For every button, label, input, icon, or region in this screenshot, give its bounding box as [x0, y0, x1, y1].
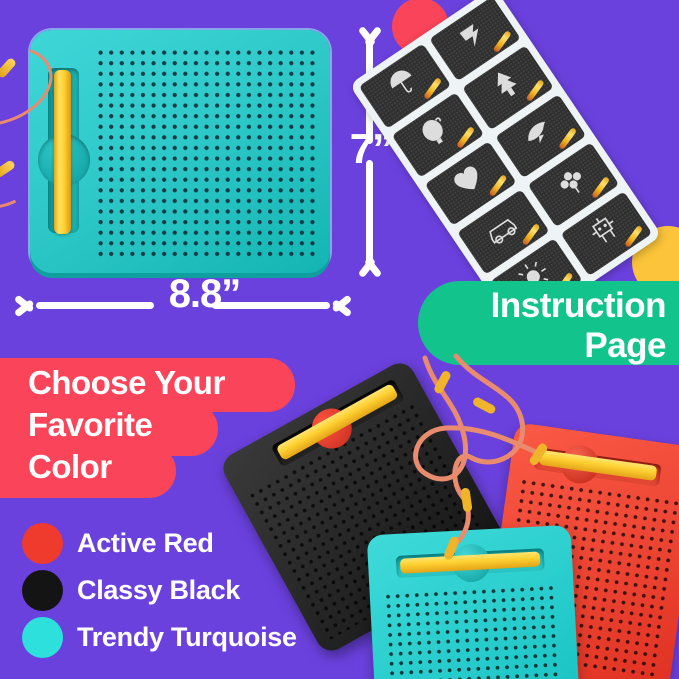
legend-item-trendy-turquoise: Trendy Turquoise — [22, 614, 352, 661]
color-swatch-turquoise — [22, 617, 63, 658]
color-legend: Active Red Classy Black Trendy Turquoise — [22, 520, 352, 661]
stylus-pen — [54, 70, 71, 234]
color-swatch-black — [22, 570, 63, 611]
legend-label: Classy Black — [77, 575, 240, 606]
dot-grid-surface — [386, 586, 565, 679]
color-swatch-red — [22, 523, 63, 564]
arrow-head-down-icon — [355, 258, 385, 276]
turquoise-tablet — [367, 525, 582, 679]
width-dimension-label: 8.8” — [137, 274, 272, 314]
width-dimension-arrow: 8.8” — [22, 286, 344, 324]
instruction-banner-line2: Page — [584, 326, 666, 365]
dot-grid-surface — [98, 50, 318, 259]
legend-label: Active Red — [77, 528, 214, 559]
instruction-banner-text: Instruction Page — [430, 286, 666, 366]
arrow-head-right-icon — [324, 295, 344, 317]
arrow-head-left-icon — [22, 295, 42, 317]
legend-item-classy-black: Classy Black — [22, 567, 352, 614]
legend-label: Trendy Turquoise — [77, 622, 297, 653]
main-product-tablet — [30, 30, 330, 273]
infographic-canvas: 7” 8.8” — [0, 0, 679, 679]
instruction-banner-line1: Instruction — [491, 286, 666, 325]
banner-line-1: Choose Your — [28, 362, 308, 404]
legend-item-active-red: Active Red — [22, 520, 352, 567]
choose-color-banner-text: Choose Your Favorite Color — [28, 362, 308, 488]
arrow-head-up-icon — [355, 28, 385, 46]
banner-line-3: Color — [28, 446, 308, 488]
banner-line-2: Favorite — [28, 404, 308, 446]
